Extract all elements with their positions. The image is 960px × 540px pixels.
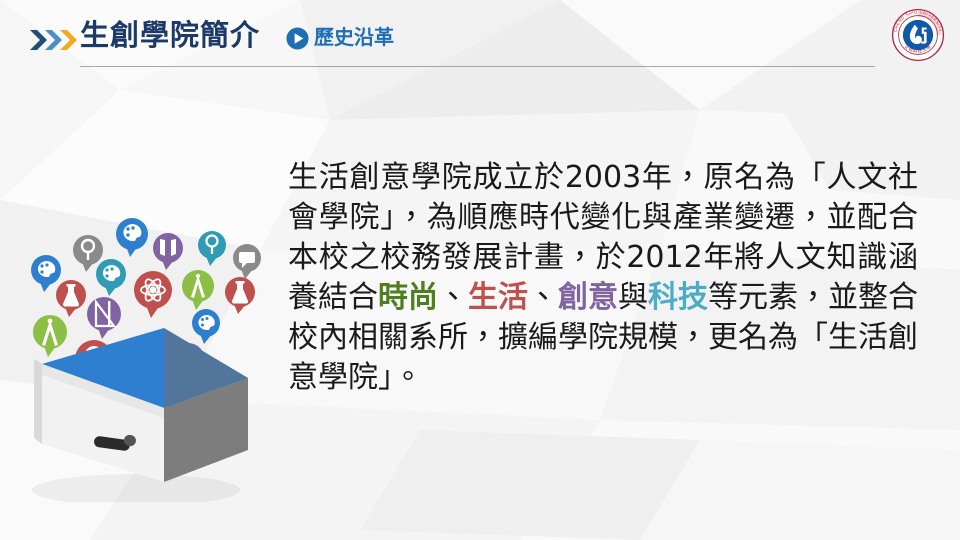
paragraph-sep-1: 、 bbox=[438, 280, 468, 315]
ballot-box-with-idea-bubbles bbox=[8, 212, 270, 502]
slide-header: 生創學院簡介 歷史沿革 bbox=[0, 0, 960, 72]
paragraph-sep-3: 與 bbox=[618, 280, 648, 315]
keyword-creativity: 創意 bbox=[558, 280, 618, 315]
keyword-technology: 科技 bbox=[648, 280, 708, 315]
bubble-magnifier-2 bbox=[198, 231, 226, 266]
bubble-compass-1 bbox=[182, 270, 214, 310]
bubble-palette-2 bbox=[116, 218, 148, 257]
cheng-shiu-university-logo: CHENG SHIU UNIVERSITY 正修科技大學 bbox=[891, 8, 945, 62]
bubble-palette-4 bbox=[192, 309, 220, 344]
play-circle-icon bbox=[286, 27, 309, 50]
page-title: 生創學院簡介 bbox=[80, 18, 260, 54]
body-paragraph: 生活創意學院成立於2003年，原名為「人文社會學院」，為順應時代變化與產業變遷，… bbox=[288, 158, 918, 398]
bubble-palette-1 bbox=[31, 255, 61, 292]
section-subtitle: 歷史沿革 bbox=[314, 26, 394, 50]
slide-canvas: 生創學院簡介 歷史沿革 CHENG SHIU UNIVERSITY 正修科技大學 bbox=[0, 0, 960, 540]
bubble-compass-2 bbox=[33, 315, 67, 357]
paragraph-sep-2: 、 bbox=[528, 280, 558, 315]
keyword-fashion: 時尚 bbox=[378, 280, 438, 315]
bubble-atom bbox=[134, 271, 172, 318]
bubble-flask-2 bbox=[225, 277, 255, 314]
bubble-book-open bbox=[153, 233, 183, 270]
section-indicator: 歷史沿革 bbox=[286, 26, 394, 50]
bubble-ruler-triangle bbox=[87, 297, 121, 339]
header-divider bbox=[80, 66, 875, 67]
bubble-flask-1 bbox=[56, 280, 86, 317]
bubble-palette-3 bbox=[96, 259, 126, 296]
bubble-speech-note bbox=[233, 244, 261, 279]
keyword-life: 生活 bbox=[468, 280, 528, 315]
ballot-box bbox=[32, 328, 248, 502]
chevron-triple-icon bbox=[30, 28, 78, 52]
